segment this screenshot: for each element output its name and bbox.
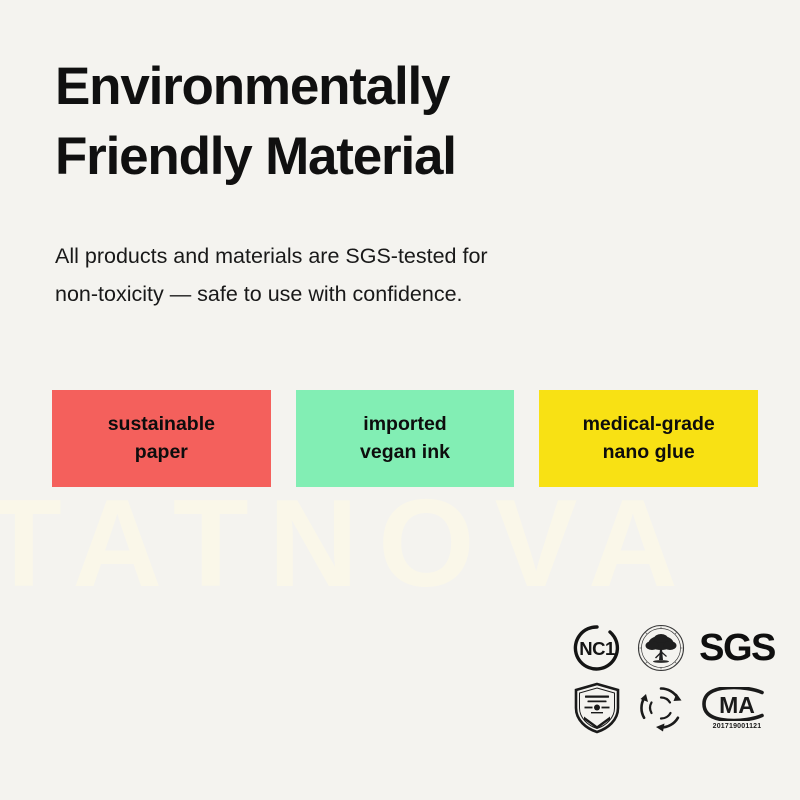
svg-text:NC1: NC1: [579, 638, 615, 659]
shield-certification-icon: [572, 682, 622, 734]
material-chip-list: sustainable paper imported vegan ink med…: [52, 390, 758, 487]
material-chip-label-line-1: medical-grade: [583, 414, 715, 435]
recycling-symbol-icon: [636, 683, 686, 733]
page-description-line-2: non-toxicity — safe to use with confiden…: [55, 275, 655, 313]
material-chip-label-line-2: nano glue: [603, 442, 695, 463]
sgs-certification-icon: SGS: [700, 627, 774, 669]
fsc-tree-seal-icon: [636, 623, 686, 673]
material-feature-card: TATNOVA Environmentally Friendly Materia…: [0, 0, 800, 800]
page-title-line-1: Environmentally: [55, 52, 695, 122]
material-chip-imported-vegan-ink: imported vegan ink: [296, 390, 515, 487]
certification-badge-row-2: MA 201719001121: [572, 682, 784, 734]
material-chip-label-line-2: vegan ink: [360, 442, 450, 463]
brand-watermark: TATNOVA: [0, 482, 800, 606]
nc1-certification-icon: NC1: [572, 623, 622, 673]
material-chip-label-line-1: sustainable: [108, 414, 215, 435]
certification-badge-grid: NC1: [572, 622, 784, 734]
sgs-wordmark: SGS: [699, 629, 775, 667]
material-chip-medical-grade-nano-glue: medical-grade nano glue: [539, 390, 758, 487]
material-chip-label-line-1: imported: [363, 414, 446, 435]
material-chip-label-line-2: paper: [135, 442, 188, 463]
cma-certification-icon: MA 201719001121: [700, 682, 774, 734]
cma-inner-label: MA: [719, 692, 755, 718]
page-description: All products and materials are SGS-teste…: [55, 237, 655, 314]
certification-badge-row-1: NC1: [572, 622, 784, 674]
page-title-line-2: Friendly Material: [55, 122, 695, 192]
material-chip-sustainable-paper: sustainable paper: [52, 390, 271, 487]
page-description-line-1: All products and materials are SGS-teste…: [55, 237, 655, 275]
cma-certificate-number: 201719001121: [713, 723, 762, 730]
page-title: Environmentally Friendly Material: [55, 52, 695, 193]
